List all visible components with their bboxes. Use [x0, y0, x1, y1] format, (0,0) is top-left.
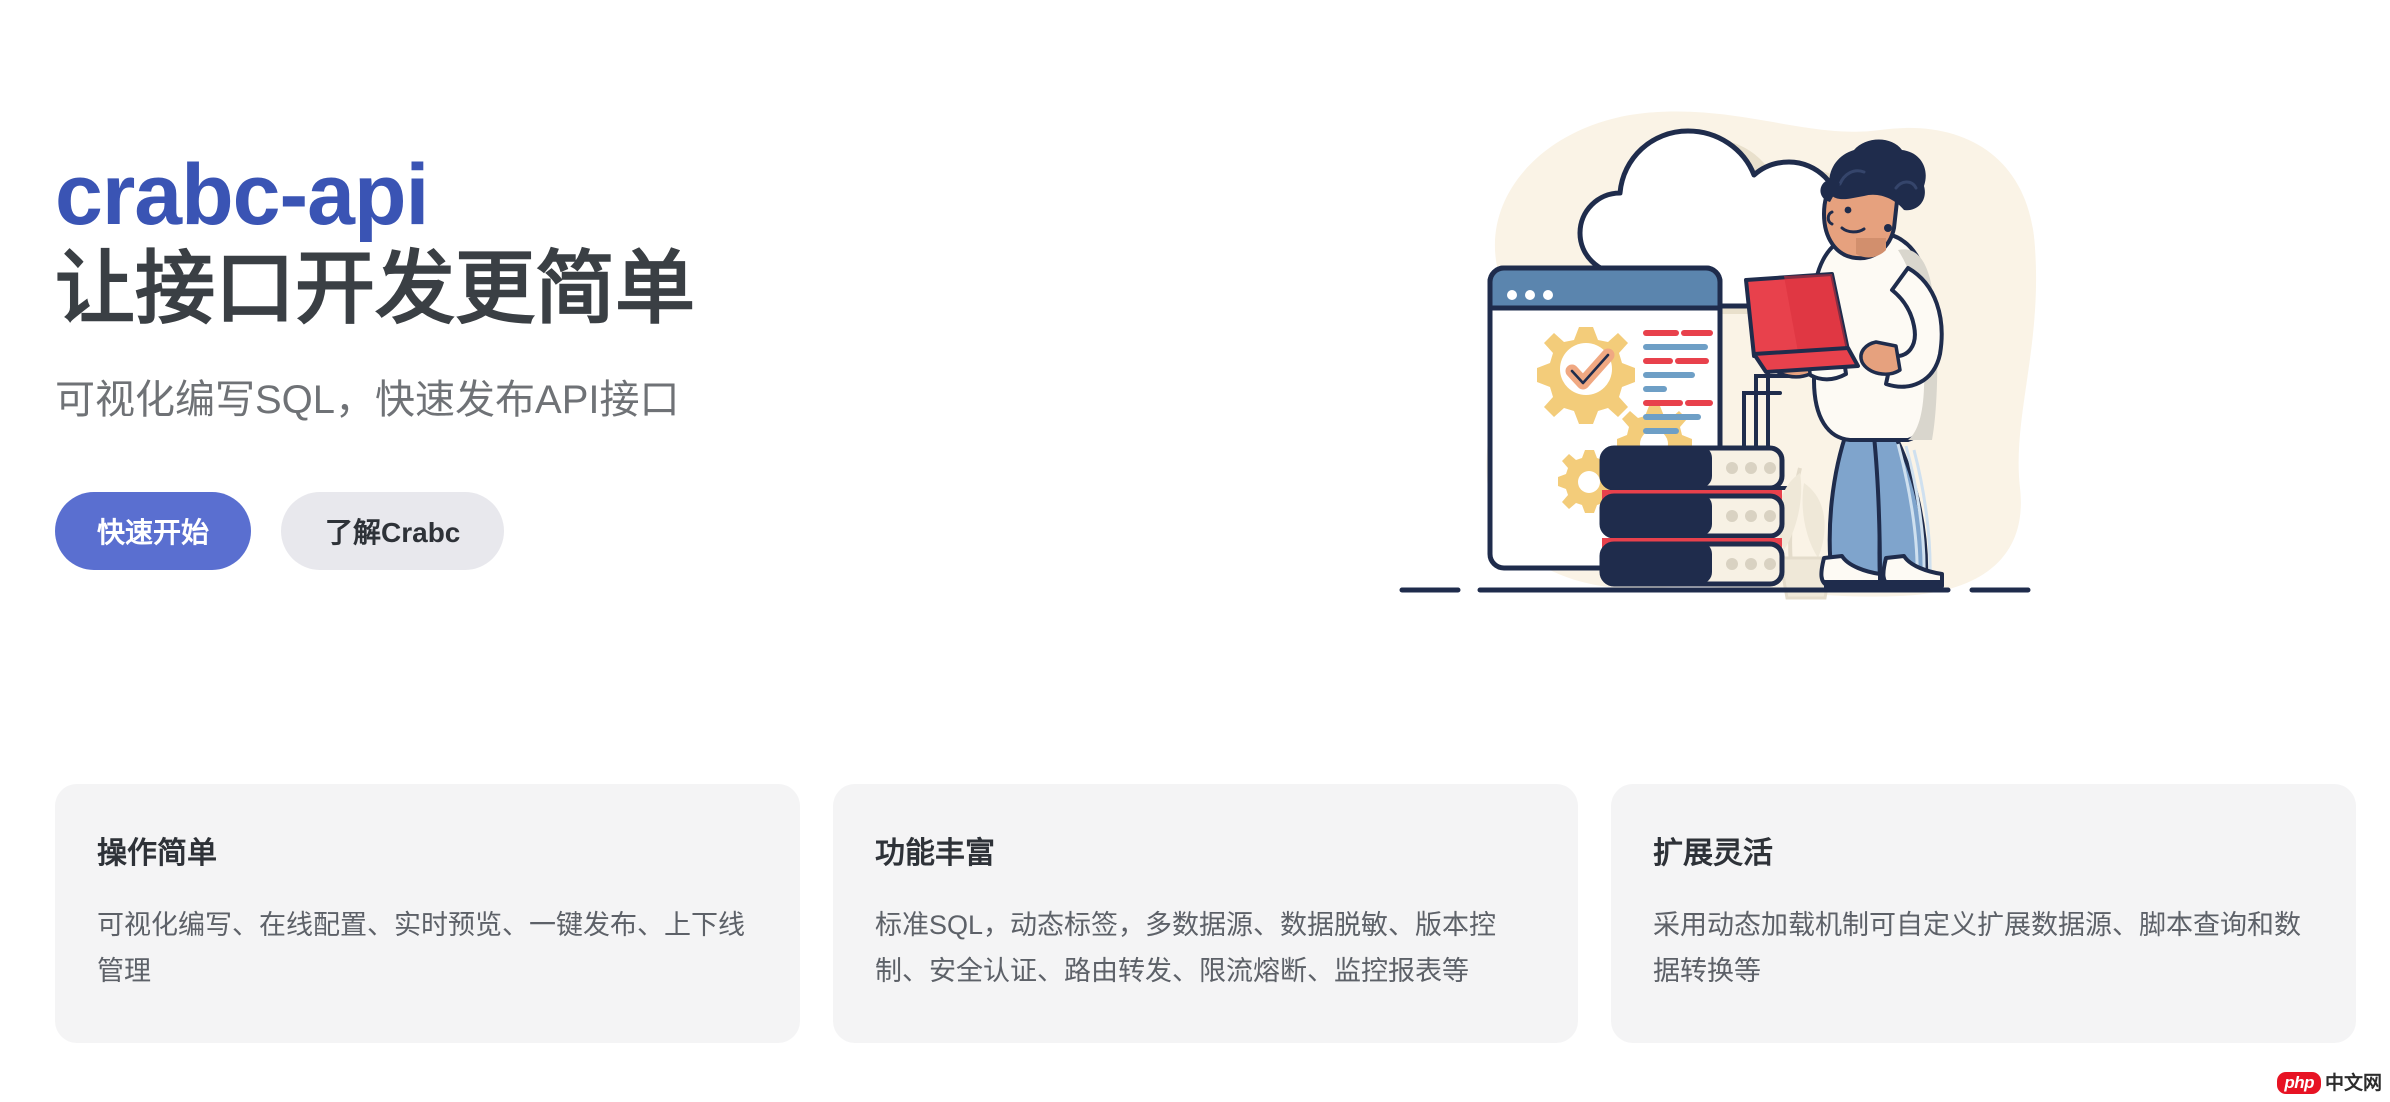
- feature-card-title: 扩展灵活: [1653, 836, 2310, 872]
- php-badge: php: [2277, 1072, 2321, 1094]
- feature-card-description: 采用动态加载机制可自定义扩展数据源、脚本查询和数据转换等: [1653, 902, 2310, 995]
- learn-crabc-button[interactable]: 了解Crabc: [281, 492, 504, 570]
- hero-section: crabc-api 让接口开发更简单 可视化编写SQL，快速发布API接口 快速…: [55, 150, 1255, 570]
- hero-subtitle: 可视化编写SQL，快速发布API接口: [55, 374, 1255, 426]
- feature-card-description: 可视化编写、在线配置、实时预览、一键发布、上下线管理: [97, 902, 754, 995]
- feature-card[interactable]: 扩展灵活 采用动态加载机制可自定义扩展数据源、脚本查询和数据转换等: [1611, 784, 2356, 1043]
- server-stack: [1602, 446, 1782, 584]
- page-root: crabc-api 让接口开发更简单 可视化编写SQL，快速发布API接口 快速…: [0, 0, 2390, 1102]
- feature-card-description: 标准SQL，动态标签，多数据源、数据脱敏、版本控制、安全认证、路由转发、限流熔断…: [875, 902, 1532, 995]
- hero-action-buttons: 快速开始 了解Crabc: [55, 492, 1255, 570]
- site-watermark: php 中文网: [2277, 1072, 2382, 1094]
- feature-card-title: 功能丰富: [875, 836, 1532, 872]
- feature-cards: 操作简单 可视化编写、在线配置、实时预览、一键发布、上下线管理 功能丰富 标准S…: [55, 784, 2356, 1043]
- feature-card[interactable]: 功能丰富 标准SQL，动态标签，多数据源、数据脱敏、版本控制、安全认证、路由转发…: [833, 784, 1578, 1043]
- hero-illustration: [1380, 88, 2080, 618]
- quick-start-button[interactable]: 快速开始: [55, 492, 251, 570]
- watermark-text: 中文网: [2325, 1074, 2382, 1093]
- brand-title: crabc-api: [55, 150, 1255, 241]
- feature-card[interactable]: 操作简单 可视化编写、在线配置、实时预览、一键发布、上下线管理: [55, 784, 800, 1043]
- hero-headline: 让接口开发更简单: [55, 243, 1255, 334]
- feature-card-title: 操作简单: [97, 836, 754, 872]
